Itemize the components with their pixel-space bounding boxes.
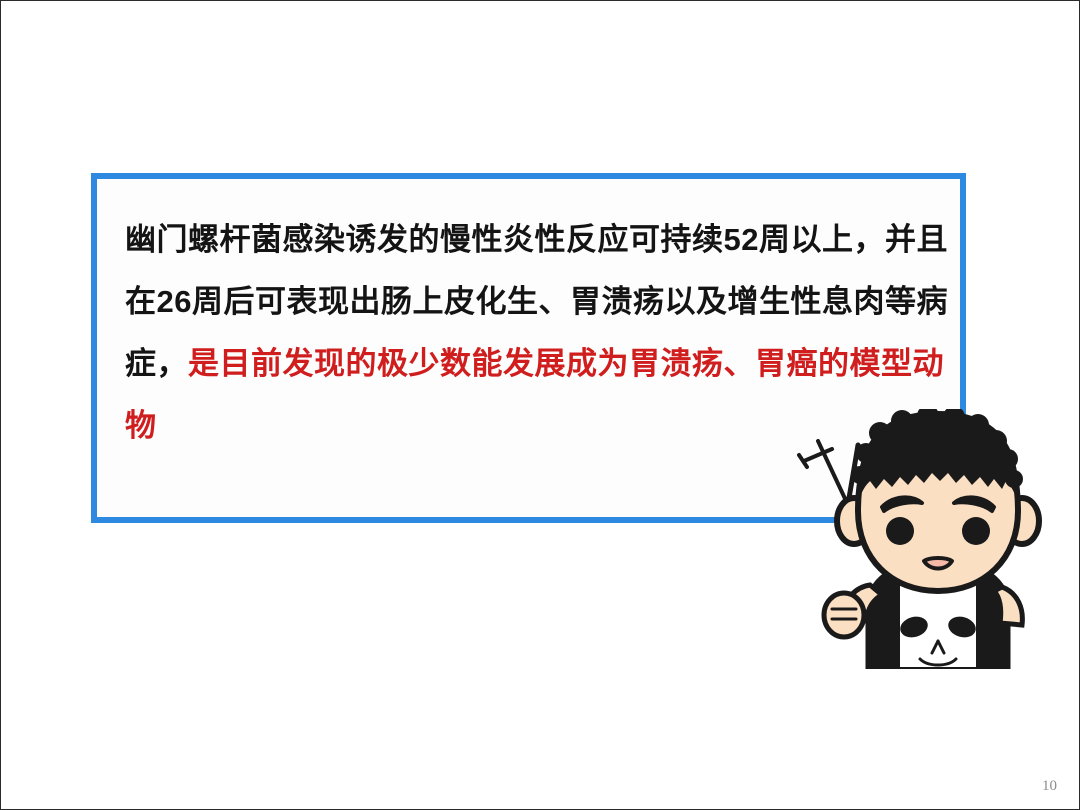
mouth: [924, 558, 952, 569]
right-arm: [994, 587, 1022, 625]
sword-icon: [799, 441, 848, 505]
page-number: 10: [1042, 778, 1057, 795]
right-eye: [962, 517, 990, 545]
slide-canvas: 幽门螺杆菌感染诱发的慢性炎性反应可持续52周以上，并且在26周后可表现出肠上皮化…: [0, 0, 1080, 810]
mascot-illustration: [796, 409, 1080, 669]
left-fist: [824, 593, 864, 637]
left-eye: [886, 517, 914, 545]
